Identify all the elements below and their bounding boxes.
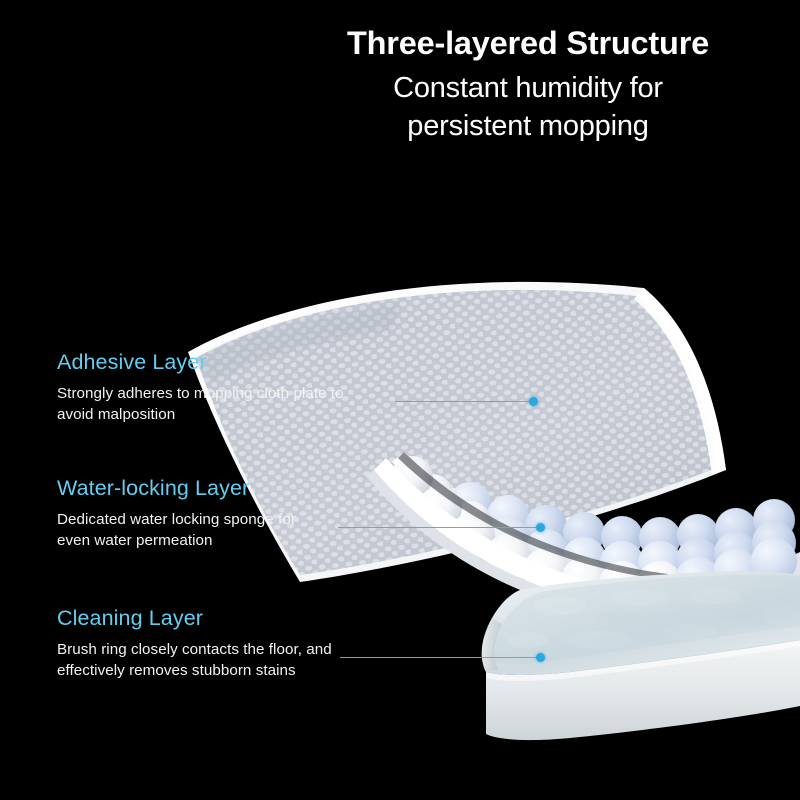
callout-dot-cleaning [536,653,545,662]
adhesive-mesh-layer [150,250,770,630]
callout-dot-water-locking [536,523,545,532]
callout-water-locking-layer: Water-locking Layer Dedicated water lock… [57,478,296,552]
page-subtitle-line-2: persistent mopping [278,108,778,146]
infographic-canvas: Three-layered Structure Constant humidit… [0,0,800,800]
leader-line-cleaning [340,657,540,658]
sponge-ball-row-back [449,482,795,559]
callout-adhesive-layer: Adhesive Layer Strongly adheres to moppi… [57,352,344,426]
callout-body-cleaning-line-1: Brush ring closely contacts the floor, a… [57,639,332,661]
callout-body-water-locking-line-2: even water permeation [57,530,296,552]
leader-line-water-locking [338,527,540,528]
cleaning-pad-layer [482,571,800,740]
header-text-block: Three-layered Structure Constant humidit… [278,24,778,146]
callout-body-cleaning-line-2: effectively removes stubborn stains [57,660,332,682]
water-locking-sponge-layer [366,452,800,628]
callout-body-adhesive-line-2: avoid malposition [57,404,344,426]
sponge-ball-row-front [391,456,797,607]
callout-cleaning-layer: Cleaning Layer Brush ring closely contac… [57,608,332,682]
callout-heading-cleaning: Cleaning Layer [57,608,332,630]
callout-body-water-locking-line-1: Dedicated water locking sponge for [57,509,296,531]
callout-body-adhesive-line-1: Strongly adheres to mopping cloth plate … [57,383,344,405]
callout-dot-adhesive [529,397,538,406]
callout-heading-adhesive: Adhesive Layer [57,352,344,374]
callout-heading-water-locking: Water-locking Layer [57,478,296,500]
leader-line-adhesive [395,401,533,402]
page-subtitle-line-1: Constant humidity for [278,70,778,108]
page-title: Three-layered Structure [278,24,778,62]
sponge-ball-row-middle [410,474,796,585]
